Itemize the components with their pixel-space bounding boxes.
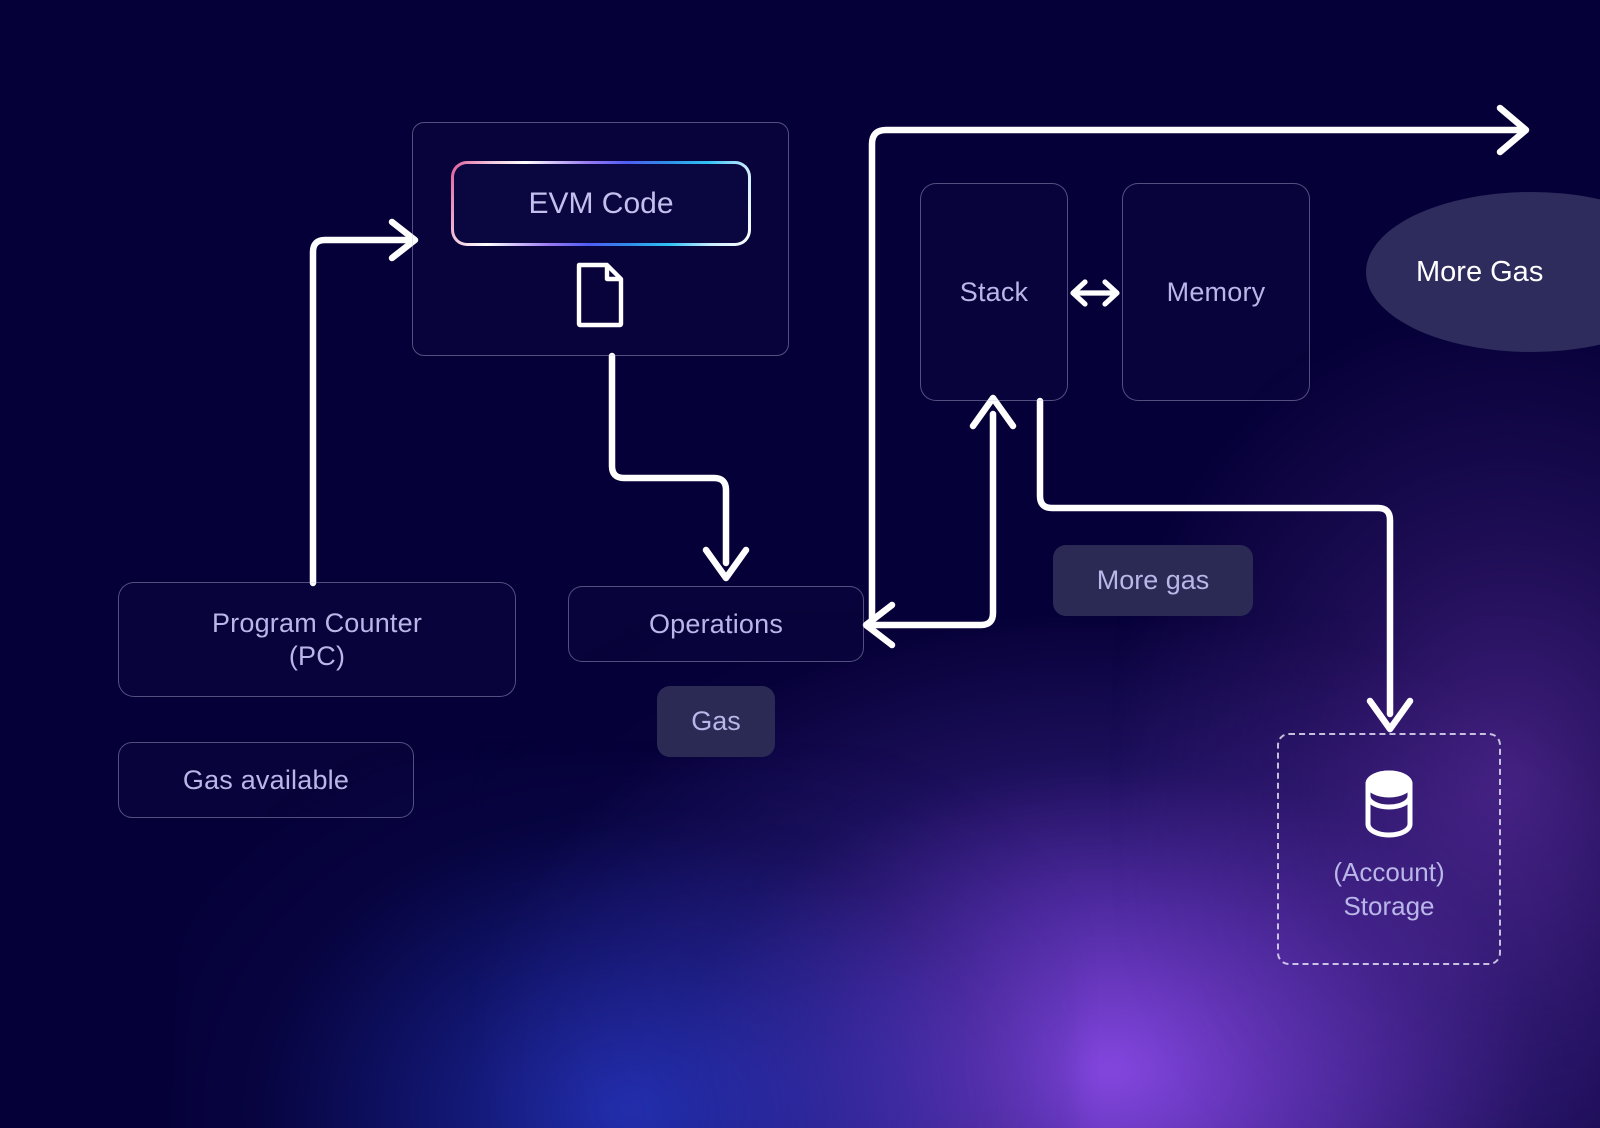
storage-label-line1: (Account) bbox=[1333, 856, 1444, 890]
account-storage-box[interactable]: (Account) Storage bbox=[1277, 733, 1501, 965]
more-gas-chip[interactable]: More gas bbox=[1053, 545, 1253, 616]
edge-evm-code-to-operations bbox=[612, 356, 746, 578]
operations-box[interactable]: Operations bbox=[568, 586, 864, 662]
gas-available-label: Gas available bbox=[183, 764, 349, 797]
storage-label-line2: Storage bbox=[1333, 890, 1444, 924]
evm-code-button[interactable]: EVM Code bbox=[451, 161, 751, 246]
memory-label: Memory bbox=[1167, 276, 1266, 309]
gas-chip[interactable]: Gas bbox=[657, 686, 775, 757]
edge-pc-to-evm-code bbox=[313, 222, 415, 583]
database-icon bbox=[1364, 770, 1414, 838]
more-gas-ellipse-label: More Gas bbox=[1416, 256, 1543, 289]
program-counter-label-line1: Program Counter bbox=[212, 607, 422, 640]
evm-code-label: EVM Code bbox=[528, 187, 673, 221]
document-icon bbox=[574, 261, 626, 328]
stack-box[interactable]: Stack bbox=[920, 183, 1068, 401]
edge-operations-to-stack bbox=[872, 398, 1013, 625]
program-counter-label-line2: (PC) bbox=[212, 640, 422, 673]
bidirectional-arrow-icon bbox=[1068, 274, 1122, 312]
more-gas-chip-label: More gas bbox=[1097, 565, 1210, 596]
memory-box[interactable]: Memory bbox=[1122, 183, 1310, 401]
diagram-canvas: .ln { fill:none; stroke:#ffffff; stroke-… bbox=[0, 0, 1600, 1128]
program-counter-box[interactable]: Program Counter (PC) bbox=[118, 582, 516, 697]
gas-chip-label: Gas bbox=[691, 706, 741, 737]
gas-available-box[interactable]: Gas available bbox=[118, 742, 414, 818]
stack-label: Stack bbox=[960, 276, 1029, 309]
operations-label: Operations bbox=[649, 608, 783, 641]
